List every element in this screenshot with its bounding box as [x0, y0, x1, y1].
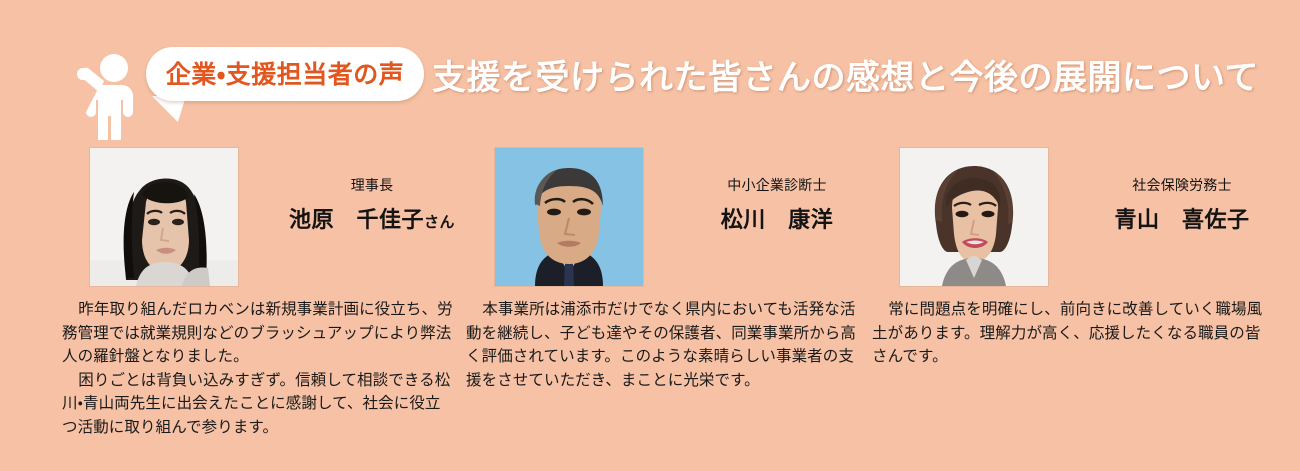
paragraph: 昨年取り組んだロカベンは新規事業計画に役立ち、労務管理では就業規則などのブラッシ…: [62, 298, 454, 369]
paragraph: 困りごとは背負い込みすぎず。信頼して相談できる松川・青山両先生に出会えたことに感…: [62, 369, 454, 440]
person-name: 池原 千佳子さん: [266, 202, 478, 234]
person-identity: 理事長 池原 千佳子さん: [266, 178, 478, 234]
avatar: [495, 148, 643, 286]
person-name: 青山 喜佐子: [1076, 202, 1288, 234]
person-identity: 中小企業診断士 松川 康洋: [671, 178, 883, 234]
testimonial-column-3: 社会保険労務士 青山 喜佐子: [900, 148, 1290, 290]
paragraph: 常に問題点を明確にし、前向きに改善していく職場風土があります。理解力が高く、応援…: [872, 298, 1264, 369]
testimonial-text-1: 昨年取り組んだロカベンは新規事業計画に役立ち、労務管理では就業規則などのブラッシ…: [62, 298, 454, 439]
testimonial-text-2: 本事業所は浦添市だけでなく県内においても活発な活動を継続し、子ども達やその保護者…: [466, 298, 858, 392]
person-row: 社会保険労務士 青山 喜佐子: [900, 148, 1290, 290]
person-name-text: 青山 喜佐子: [1114, 208, 1249, 233]
testimonial-column-2: 中小企業診断士 松川 康洋: [495, 148, 885, 290]
badge-bubble: 企業・支援担当者の声: [146, 47, 424, 101]
testimonial-banner: 企業・支援担当者の声 支援を受けられた皆さんの感想と今後の展開について: [0, 0, 1300, 471]
person-role: 社会保険労務士: [1076, 178, 1288, 195]
person-role: 理事長: [266, 178, 478, 195]
avatar: [90, 148, 238, 286]
avatar: [900, 148, 1048, 286]
testimonial-text-3: 常に問題点を明確にし、前向きに改善していく職場風土があります。理解力が高く、応援…: [872, 298, 1264, 369]
testimonial-column-1: 理事長 池原 千佳子さん: [90, 148, 480, 290]
person-row: 中小企業診断士 松川 康洋: [495, 148, 885, 290]
speaking-person-icon: [72, 52, 152, 140]
person-identity: 社会保険労務士 青山 喜佐子: [1076, 178, 1288, 234]
person-name-text: 松川 康洋: [721, 208, 834, 233]
banner-header: 企業・支援担当者の声 支援を受けられた皆さんの感想と今後の展開について: [0, 0, 1300, 145]
person-role: 中小企業診断士: [671, 178, 883, 195]
person-name-suffix: さん: [424, 213, 455, 231]
badge-label: 企業・支援担当者の声: [166, 55, 405, 91]
page-title: 支援を受けられた皆さんの感想と今後の展開について: [432, 50, 1259, 99]
person-name-text: 池原 千佳子: [289, 208, 424, 233]
person-name: 松川 康洋: [671, 202, 883, 234]
person-row: 理事長 池原 千佳子さん: [90, 148, 480, 290]
paragraph: 本事業所は浦添市だけでなく県内においても活発な活動を継続し、子ども達やその保護者…: [466, 298, 858, 392]
